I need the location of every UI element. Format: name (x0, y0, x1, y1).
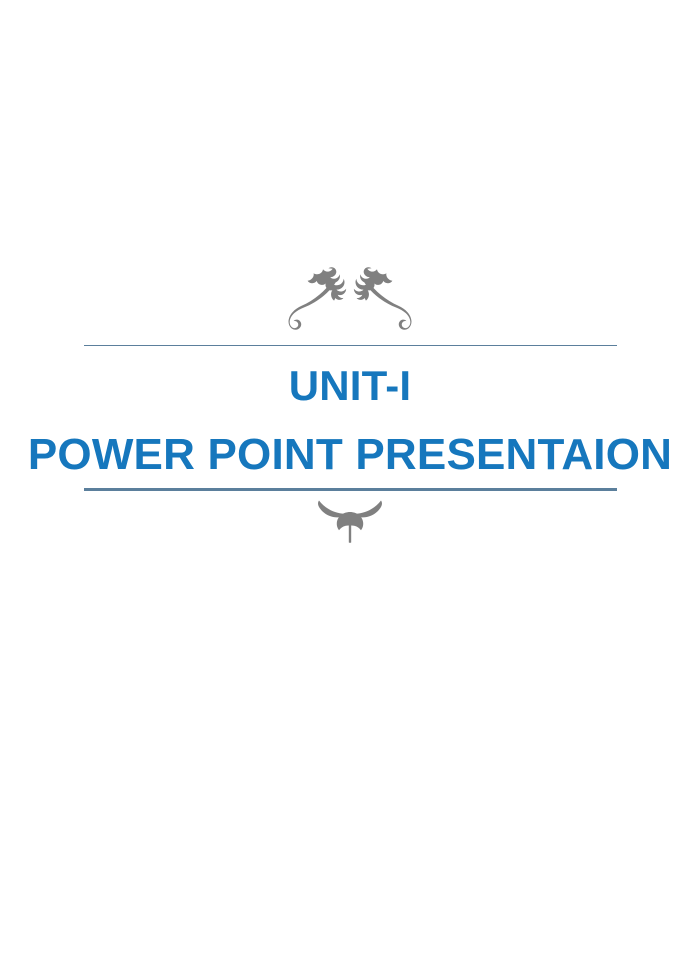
document-page: UNIT-I POWER POINT PRESENTAION (0, 0, 700, 960)
divider-top (84, 345, 617, 346)
title-block: UNIT-I POWER POINT PRESENTAION (0, 262, 700, 543)
flourish-ornament-pair-icon (284, 262, 416, 334)
sprout-leaf-ornament-icon (317, 497, 383, 543)
page-title-unit: UNIT-I (0, 365, 700, 407)
divider-bottom (84, 488, 617, 491)
page-title-main: POWER POINT PRESENTAION (0, 433, 700, 477)
